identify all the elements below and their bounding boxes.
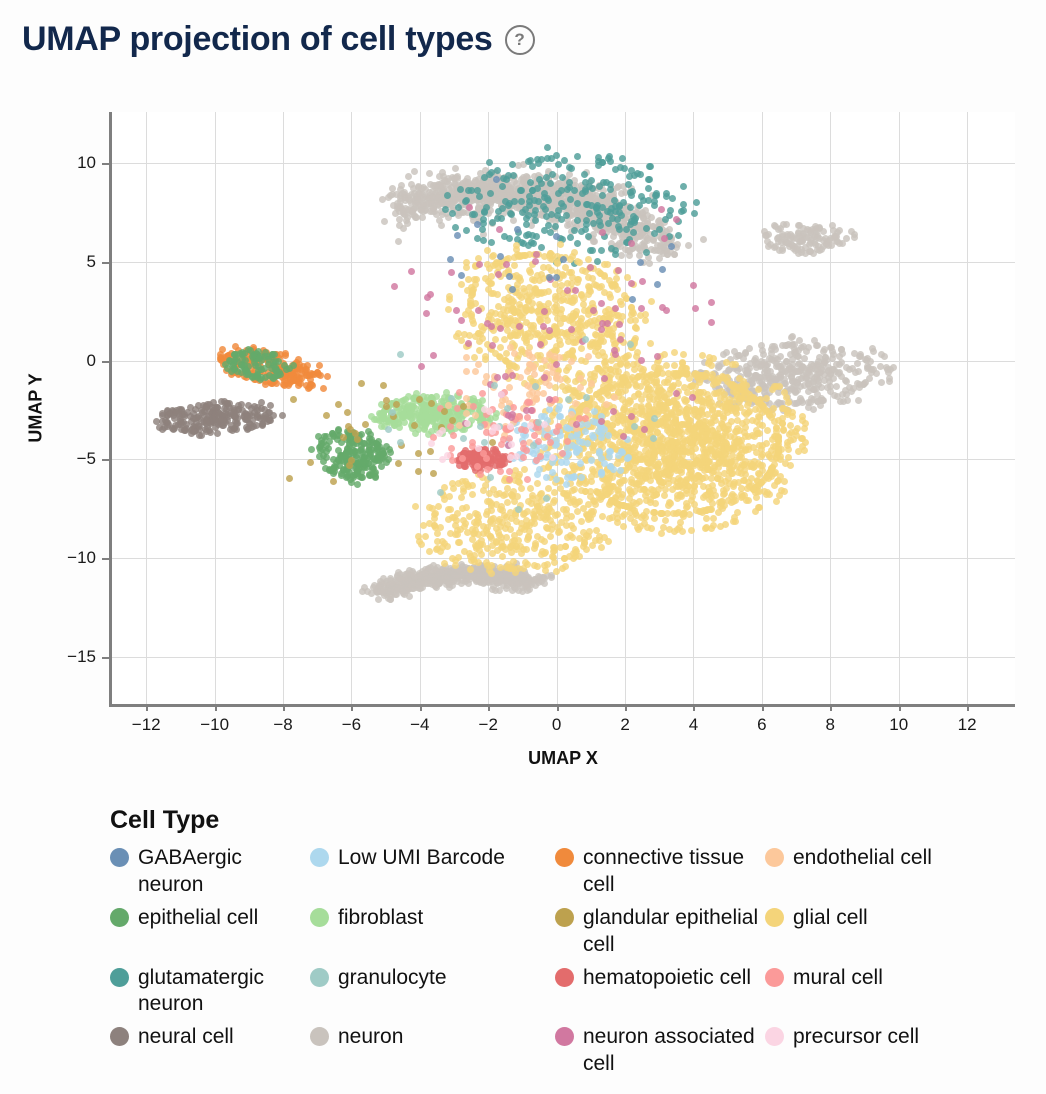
scatter-point	[606, 483, 613, 490]
scatter-point	[651, 202, 658, 209]
scatter-point	[454, 175, 461, 182]
scatter-point	[776, 492, 783, 499]
scatter-point	[764, 427, 771, 434]
scatter-point	[772, 243, 779, 250]
scatter-point	[608, 205, 615, 212]
scatter-point	[486, 265, 493, 272]
scatter-point	[788, 342, 795, 349]
scatter-point	[379, 589, 386, 596]
scatter-point	[188, 427, 195, 434]
scatter-point	[734, 509, 741, 516]
scatter-point	[452, 197, 459, 204]
scatter-point	[605, 220, 612, 227]
scatter-point	[595, 162, 602, 169]
scatter-point	[267, 402, 274, 409]
scatter-point	[627, 502, 634, 509]
scatter-point	[457, 186, 464, 193]
scatter-point	[509, 161, 516, 168]
scatter-point	[646, 163, 653, 170]
scatter-point	[785, 399, 792, 406]
scatter-point	[614, 216, 621, 223]
umap-plot-page: UMAP projection of cell types ? −12−10−8…	[0, 0, 1046, 1094]
scatter-point	[695, 472, 702, 479]
scatter-point	[631, 366, 638, 373]
scatter-point	[209, 415, 216, 422]
scatter-point	[730, 518, 737, 525]
scatter-point	[567, 256, 574, 263]
scatter-point	[878, 379, 885, 386]
scatter-point	[636, 202, 643, 209]
scatter-point	[463, 227, 470, 234]
scatter-point	[700, 483, 707, 490]
scatter-point	[626, 248, 633, 255]
scatter-point	[530, 240, 537, 247]
scatter-point	[661, 492, 668, 499]
scatter-point	[775, 433, 782, 440]
scatter-point	[426, 170, 433, 177]
scatter-point	[756, 421, 763, 428]
scatter-point	[786, 363, 793, 370]
scatter-point	[890, 364, 897, 371]
scatter-point	[626, 173, 633, 180]
scatter-plot-canvas[interactable]	[112, 112, 1015, 704]
scatter-point	[797, 383, 804, 390]
scatter-point	[702, 446, 709, 453]
scatter-point	[480, 237, 487, 244]
scatter-point	[726, 468, 733, 475]
scatter-point	[824, 384, 831, 391]
scatter-point	[399, 190, 406, 197]
scatter-point	[612, 166, 619, 173]
scatter-point	[674, 492, 681, 499]
gridline-vertical	[899, 112, 900, 704]
scatter-point	[571, 227, 578, 234]
scatter-point	[506, 188, 513, 195]
scatter-point	[777, 371, 784, 378]
scatter-point	[828, 344, 835, 351]
scatter-point	[248, 424, 255, 431]
scatter-point	[639, 368, 646, 375]
scatter-point	[430, 205, 437, 212]
scatter-point	[836, 353, 843, 360]
scatter-point	[634, 374, 641, 381]
scatter-point	[593, 282, 600, 289]
scatter-point	[736, 352, 743, 359]
scatter-point	[628, 167, 635, 174]
scatter-point	[221, 398, 228, 405]
scatter-point	[757, 400, 764, 407]
scatter-point	[745, 497, 752, 504]
scatter-point	[683, 365, 690, 372]
scatter-point	[209, 404, 216, 411]
scatter-point	[563, 212, 570, 219]
chart-container: −12−10−8−6−4−20246810121050−5−10−15 UMAP…	[0, 100, 1046, 800]
scatter-point	[465, 187, 472, 194]
scatter-point	[506, 235, 513, 242]
scatter-point	[552, 384, 559, 391]
scatter-point	[446, 293, 453, 300]
scatter-point	[873, 370, 880, 377]
scatter-point	[578, 487, 585, 494]
scatter-point	[756, 430, 763, 437]
scatter-point	[772, 223, 779, 230]
scatter-point	[620, 523, 627, 530]
scatter-point	[819, 397, 826, 404]
scatter-point	[691, 488, 698, 495]
scatter-point	[570, 464, 577, 471]
scatter-point	[662, 517, 669, 524]
scatter-point	[843, 235, 850, 242]
scatter-point	[619, 374, 626, 381]
scatter-point	[452, 165, 459, 172]
scatter-point	[785, 454, 792, 461]
scatter-point	[662, 216, 669, 223]
scatter-point	[668, 445, 675, 452]
scatter-point	[532, 217, 539, 224]
scatter-point	[752, 508, 759, 515]
scatter-point	[559, 271, 566, 278]
scatter-point	[803, 348, 810, 355]
scatter-point	[710, 515, 717, 522]
scatter-point	[697, 508, 704, 515]
scatter-point	[525, 158, 532, 165]
scatter-point	[458, 281, 465, 288]
scatter-point	[482, 356, 489, 363]
scatter-point	[838, 346, 845, 353]
scatter-point	[507, 210, 514, 217]
scatter-point	[708, 420, 715, 427]
scatter-point	[736, 375, 743, 382]
scatter-point	[758, 342, 765, 349]
scatter-point	[540, 264, 547, 271]
scatter-point	[636, 451, 643, 458]
scatter-point	[598, 247, 605, 254]
scatter-point	[452, 224, 459, 231]
scatter-point	[886, 375, 893, 382]
scatter-point	[787, 462, 794, 469]
scatter-point	[656, 476, 663, 483]
scatter-point	[764, 361, 771, 368]
scatter-point	[665, 475, 672, 482]
scatter-point	[525, 231, 532, 238]
scatter-point	[799, 237, 806, 244]
scatter-point	[593, 488, 600, 495]
scatter-point	[744, 367, 751, 374]
scatter-point	[677, 427, 684, 434]
scatter-point	[618, 494, 625, 501]
scatter-point	[601, 353, 608, 360]
scatter-point	[669, 195, 676, 202]
scatter-point	[680, 351, 687, 358]
scatter-point	[686, 511, 693, 518]
scatter-point	[405, 173, 412, 180]
scatter-point	[495, 208, 502, 215]
scatter-point	[449, 582, 456, 589]
scatter-point	[548, 574, 555, 581]
scatter-point	[684, 503, 691, 510]
scatter-point	[658, 482, 665, 489]
scatter-point	[646, 260, 653, 267]
gridline-horizontal	[112, 657, 1015, 658]
scatter-point	[814, 342, 821, 349]
scatter-point	[653, 192, 660, 199]
scatter-point	[459, 577, 466, 584]
scatter-point	[692, 383, 699, 390]
scatter-point	[759, 451, 766, 458]
scatter-point	[756, 488, 763, 495]
scatter-point	[704, 466, 711, 473]
scatter-point	[700, 236, 707, 243]
scatter-point	[171, 415, 178, 422]
scatter-point	[675, 232, 682, 239]
scatter-point	[559, 383, 566, 390]
scatter-point	[711, 462, 718, 469]
gridline-vertical	[351, 112, 352, 704]
scatter-point	[681, 384, 688, 391]
scatter-point	[170, 426, 177, 433]
scatter-point	[631, 393, 638, 400]
scatter-point	[696, 420, 703, 427]
scatter-point	[436, 579, 443, 586]
scatter-point	[693, 199, 700, 206]
scatter-point	[815, 243, 822, 250]
scatter-point	[850, 385, 857, 392]
scatter-point	[754, 478, 761, 485]
scatter-point	[497, 577, 504, 584]
scatter-point	[566, 164, 573, 171]
scatter-point	[544, 144, 551, 151]
scatter-point	[656, 226, 663, 233]
scatter-point	[584, 320, 591, 327]
scatter-point	[705, 437, 712, 444]
scatter-point	[396, 222, 403, 229]
scatter-point	[513, 242, 520, 249]
scatter-point	[771, 482, 778, 489]
scatter-point	[731, 434, 738, 441]
scatter-point	[574, 240, 581, 247]
scatter-point	[199, 409, 206, 416]
scatter-point	[558, 297, 565, 304]
scatter-point	[616, 202, 623, 209]
scatter-point	[722, 521, 729, 528]
scatter-point	[708, 399, 715, 406]
scatter-point	[518, 198, 525, 205]
scatter-point	[720, 487, 727, 494]
scatter-point	[381, 218, 388, 225]
scatter-point	[640, 486, 647, 493]
page-header: UMAP projection of cell types ?	[22, 20, 535, 59]
scatter-point	[607, 294, 614, 301]
scatter-point	[627, 189, 634, 196]
scatter-point	[651, 247, 658, 254]
scatter-point	[643, 374, 650, 381]
scatter-point	[691, 501, 698, 508]
scatter-point	[681, 396, 688, 403]
scatter-point	[453, 572, 460, 579]
scatter-point	[676, 524, 683, 531]
scatter-point	[787, 437, 794, 444]
scatter-point	[829, 366, 836, 373]
scatter-point	[643, 249, 650, 256]
scatter-point	[703, 515, 710, 522]
scatter-point	[636, 252, 643, 259]
scatter-point	[739, 395, 746, 402]
scatter-point	[442, 206, 449, 213]
scatter-point	[800, 364, 807, 371]
scatter-point	[636, 498, 643, 505]
gridline-vertical	[967, 112, 968, 704]
scatter-point	[438, 222, 445, 229]
scatter-point	[788, 429, 795, 436]
scatter-point	[445, 306, 452, 313]
scatter-point	[613, 363, 620, 370]
scatter-point	[396, 575, 403, 582]
scatter-point	[415, 184, 422, 191]
scatter-point	[855, 368, 862, 375]
scatter-point	[772, 355, 779, 362]
question-mark-circle-icon[interactable]: ?	[505, 25, 535, 55]
scatter-point	[181, 426, 188, 433]
scatter-point	[679, 511, 686, 518]
scatter-point	[780, 221, 787, 228]
scatter-point	[245, 402, 252, 409]
scatter-point	[616, 479, 623, 486]
scatter-point	[618, 252, 625, 259]
scatter-point	[544, 195, 551, 202]
scatter-point	[483, 204, 490, 211]
scatter-point	[561, 157, 568, 164]
scatter-point	[586, 210, 593, 217]
scatter-point	[671, 349, 678, 356]
scatter-point	[409, 208, 416, 215]
scatter-point	[657, 510, 664, 517]
scatter-point	[836, 369, 843, 376]
scatter-point	[567, 196, 574, 203]
scatter-point	[813, 362, 820, 369]
scatter-point	[789, 409, 796, 416]
scatter-point	[633, 383, 640, 390]
scatter-point	[673, 462, 680, 469]
scatter-point	[192, 406, 199, 413]
scatter-point	[395, 238, 402, 245]
scatter-point	[267, 417, 274, 424]
scatter-point	[644, 212, 651, 219]
scatter-point	[794, 353, 801, 360]
scatter-point	[663, 362, 670, 369]
scatter-point	[684, 482, 691, 489]
scatter-point	[801, 447, 808, 454]
scatter-point	[643, 225, 650, 232]
scatter-point	[643, 441, 650, 448]
scatter-point	[722, 460, 729, 467]
scatter-point	[589, 466, 596, 473]
scatter-point	[632, 317, 639, 324]
scatter-point	[634, 470, 641, 477]
scatter-point	[553, 152, 560, 159]
scatter-point	[444, 192, 451, 199]
scatter-point	[235, 402, 242, 409]
scatter-point	[574, 200, 581, 207]
scatter-point	[618, 301, 625, 308]
scatter-point	[843, 378, 850, 385]
scatter-point	[831, 233, 838, 240]
scatter-point	[644, 237, 651, 244]
scatter-point	[799, 413, 806, 420]
scatter-point	[720, 415, 727, 422]
scatter-point	[486, 171, 493, 178]
scatter-point	[803, 374, 810, 381]
scatter-point	[765, 243, 772, 250]
scatter-point	[658, 530, 665, 537]
scatter-point	[627, 204, 634, 211]
scatter-point	[688, 527, 695, 534]
scatter-point	[421, 570, 428, 577]
scatter-point	[567, 234, 574, 241]
scatter-point	[718, 500, 725, 507]
scatter-point	[527, 179, 534, 186]
scatter-point	[672, 372, 679, 379]
scatter-point	[511, 262, 518, 269]
gridline-vertical	[283, 112, 284, 704]
scatter-point	[582, 179, 589, 186]
scatter-point	[187, 413, 194, 420]
scatter-point	[851, 234, 858, 241]
scatter-point	[840, 398, 847, 405]
scatter-point	[655, 388, 662, 395]
scatter-point	[578, 345, 585, 352]
scatter-point	[655, 218, 662, 225]
scatter-point	[645, 197, 652, 204]
scatter-point	[738, 485, 745, 492]
scatter-point	[647, 340, 654, 347]
scatter-point	[814, 234, 821, 241]
scatter-point	[667, 207, 674, 214]
scatter-point	[542, 206, 549, 213]
scatter-point	[597, 222, 604, 229]
scatter-point	[574, 153, 581, 160]
scatter-point	[472, 177, 479, 184]
scatter-point	[492, 310, 499, 317]
scatter-point	[680, 201, 687, 208]
scatter-point	[437, 182, 444, 189]
scatter-point	[862, 379, 869, 386]
scatter-point	[560, 203, 567, 210]
scatter-point	[637, 171, 644, 178]
scatter-point	[691, 210, 698, 217]
scatter-point	[498, 215, 505, 222]
scatter-point	[855, 397, 862, 404]
scatter-point	[214, 430, 221, 437]
scatter-point	[585, 233, 592, 240]
scatter-point	[392, 210, 399, 217]
scatter-point	[589, 247, 596, 254]
scatter-point	[680, 183, 687, 190]
scatter-point	[673, 483, 680, 490]
scatter-point	[710, 522, 717, 529]
scatter-point	[816, 369, 823, 376]
scatter-point	[645, 185, 652, 192]
scatter-point	[533, 233, 540, 240]
scatter-point	[486, 159, 493, 166]
gridline-vertical	[830, 112, 831, 704]
scatter-point	[667, 500, 674, 507]
scatter-point	[646, 408, 653, 415]
scatter-point	[671, 251, 678, 258]
scatter-point	[829, 222, 836, 229]
scatter-point	[279, 412, 286, 419]
scatter-point	[781, 389, 788, 396]
scatter-point	[503, 358, 510, 365]
